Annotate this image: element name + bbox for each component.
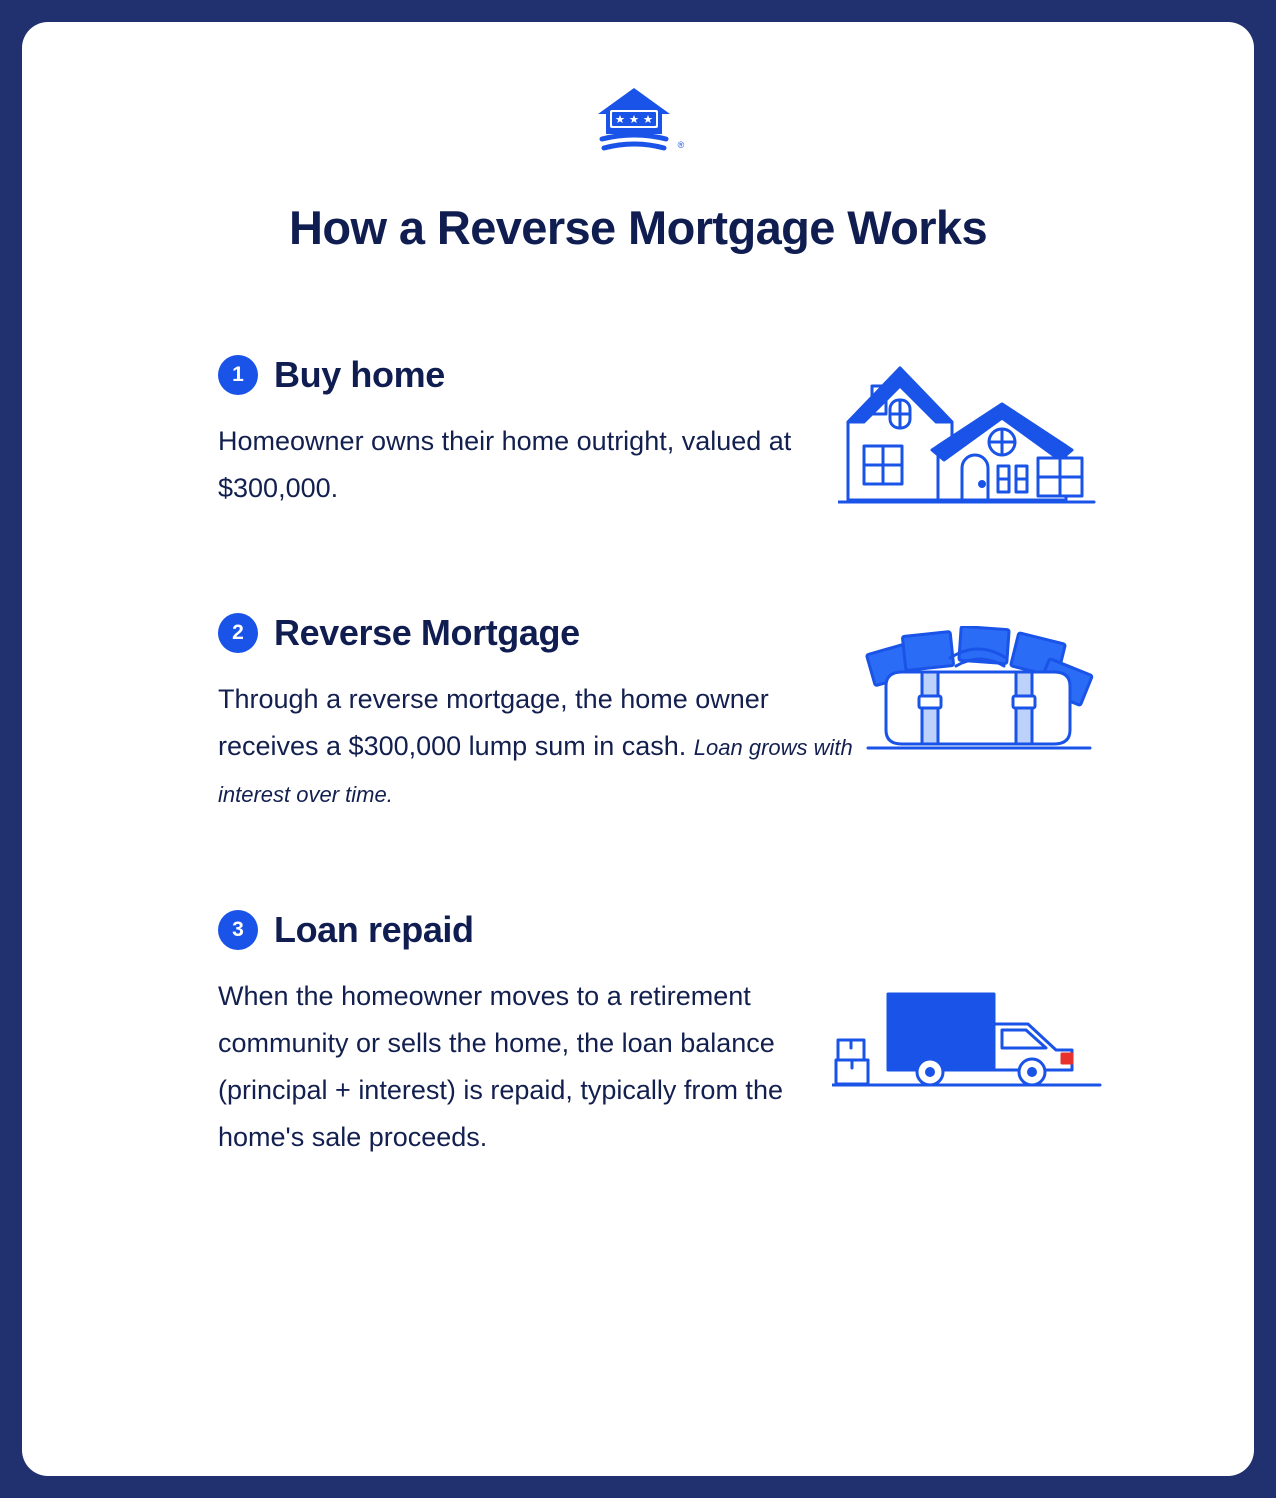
step-1-number-badge: 1 [218,355,258,395]
step-3-number-badge: 3 [218,910,258,950]
registered-trademark: ® [678,140,685,150]
infographic-frame: ® How a Reverse Mortgage Works 1 Buy hom… [0,0,1276,1498]
infographic-card: ® How a Reverse Mortgage Works 1 Buy hom… [22,22,1254,1476]
house-icon [838,350,1098,515]
step-3-body: When the homeowner moves to a retirement… [218,973,858,1161]
house-logo-icon [592,84,676,156]
duffel-bag-of-cash-icon [864,626,1094,766]
brand-logo: ® [22,84,1254,156]
step-2-number-badge: 2 [218,613,258,653]
moving-truck-illustration [832,982,1104,1102]
steps-list: 1 Buy home Homeowner owns their home out… [218,354,1104,1161]
step-3-header: 3 Loan repaid [218,909,1104,951]
page-title: How a Reverse Mortgage Works [22,200,1254,255]
house-illustration [838,350,1098,515]
step-1-body: Homeowner owns their home outright, valu… [218,418,858,512]
step-3-title: Loan repaid [274,909,474,951]
step-2-body-text: Through a reverse mortgage, the home own… [218,684,769,761]
step-1-title: Buy home [274,354,445,396]
step-2-title: Reverse Mortgage [274,612,580,654]
step-2-body: Through a reverse mortgage, the home own… [218,676,858,817]
moving-truck-icon [832,982,1104,1102]
money-bag-illustration [864,626,1094,766]
